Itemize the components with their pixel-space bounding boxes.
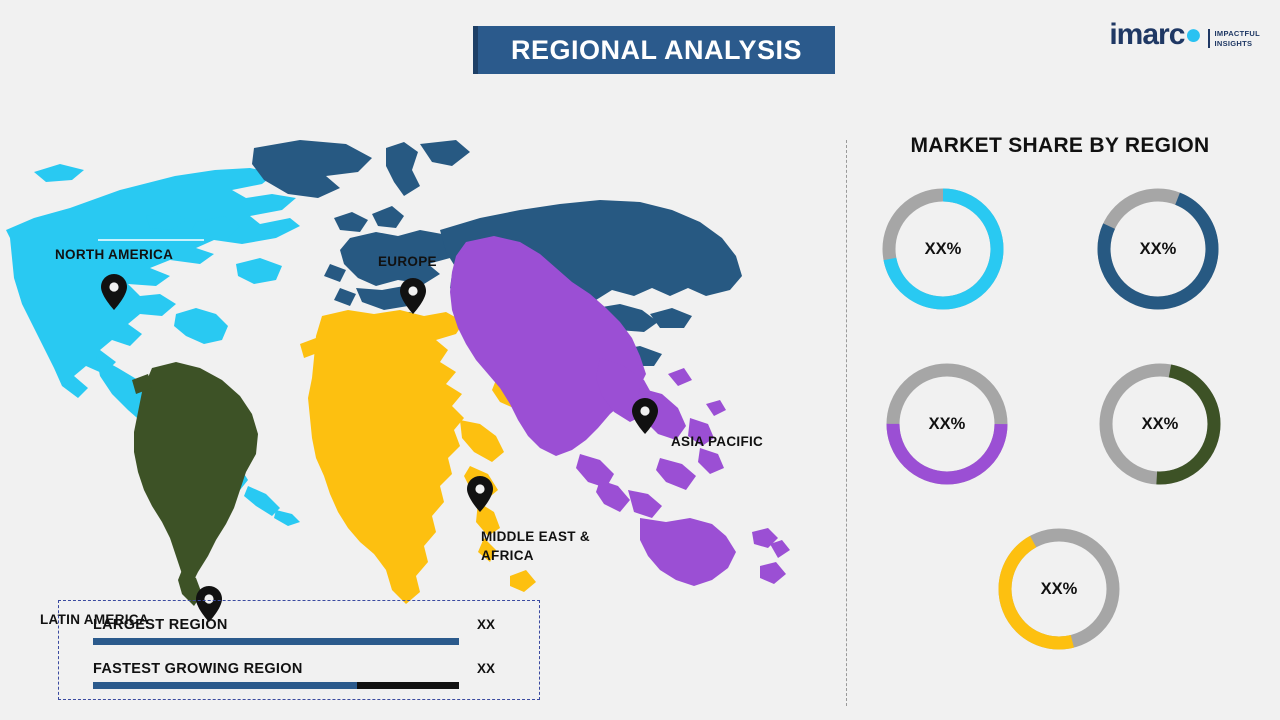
legend-row-fastest-growing-region: FASTEST GROWING REGION XX [93,661,513,689]
legend-bar-fill-fastest-growing-region [93,682,357,689]
map-pin-north-america-icon[interactable] [101,274,127,310]
legend-bar-fastest-growing-region [93,682,459,689]
panel-divider [846,140,847,706]
legend-value-largest-region: XX [477,617,513,632]
donut-chart-middle-east-africa[interactable]: XX% [992,522,1126,656]
donut-label-north-america: XX% [876,182,1010,316]
donut-label-asia-pacific: XX% [880,357,1014,491]
map-label-north-america: NORTH AMERICA [55,245,173,264]
legend-label-largest-region: LARGEST REGION [93,617,228,633]
donut-chart-latin-america[interactable]: XX% [1093,357,1227,491]
donut-label-latin-america: XX% [1093,357,1227,491]
page-title: REGIONAL ANALYSIS [473,26,835,74]
legend-bar-fill-largest-region [93,638,459,645]
legend-box: LARGEST REGION XX FASTEST GROWING REGION… [58,600,540,700]
logo-tagline-line2: INSIGHTS [1215,39,1260,49]
logo-tagline: IMPACTFUL INSIGHTS [1208,29,1260,48]
legend-row-largest-region: LARGEST REGION XX [93,617,513,645]
donut-label-europe: XX% [1091,182,1225,316]
donut-chart-asia-pacific[interactable]: XX% [880,357,1014,491]
map-pin-europe-icon[interactable] [400,278,426,314]
donut-chart-north-america[interactable]: XX% [876,182,1010,316]
map-label-europe: EUROPE [378,252,437,271]
regional-analysis-slide: REGIONAL ANALYSIS imarc● IMPACTFUL INSIG… [0,0,1280,720]
map-pin-middle-east-africa-icon[interactable] [467,476,493,512]
logo-tagline-line1: IMPACTFUL [1215,29,1260,39]
logo-wordmark-text: imarc [1109,18,1184,51]
market-share-donut-group: XX% XX% XX% XX% [866,182,1258,662]
legend-label-fastest-growing-region: FASTEST GROWING REGION [93,661,303,677]
donut-label-middle-east-africa: XX% [992,522,1126,656]
logo-dot-icon: ● [1184,18,1201,51]
page-title-text: REGIONAL ANALYSIS [511,35,802,66]
donut-chart-europe[interactable]: XX% [1091,182,1225,316]
map-label-asia-pacific: ASIA PACIFIC [671,432,763,451]
map-region-latin-america[interactable] [132,362,258,606]
world-map-svg [0,118,830,608]
world-map: NORTH AMERICA EUROPE ASIA PACIFIC MIDDLE… [0,118,830,608]
logo-wordmark: imarc● [1109,22,1201,48]
imarc-logo: imarc● IMPACTFUL INSIGHTS [1109,22,1260,48]
legend-bar-largest-region [93,638,459,645]
legend-value-fastest-growing-region: XX [477,661,513,676]
map-label-middle-east-africa: MIDDLE EAST & AFRICA [481,527,590,565]
market-share-panel-title: MARKET SHARE BY REGION [846,134,1274,158]
map-pin-asia-pacific-icon[interactable] [632,398,658,434]
